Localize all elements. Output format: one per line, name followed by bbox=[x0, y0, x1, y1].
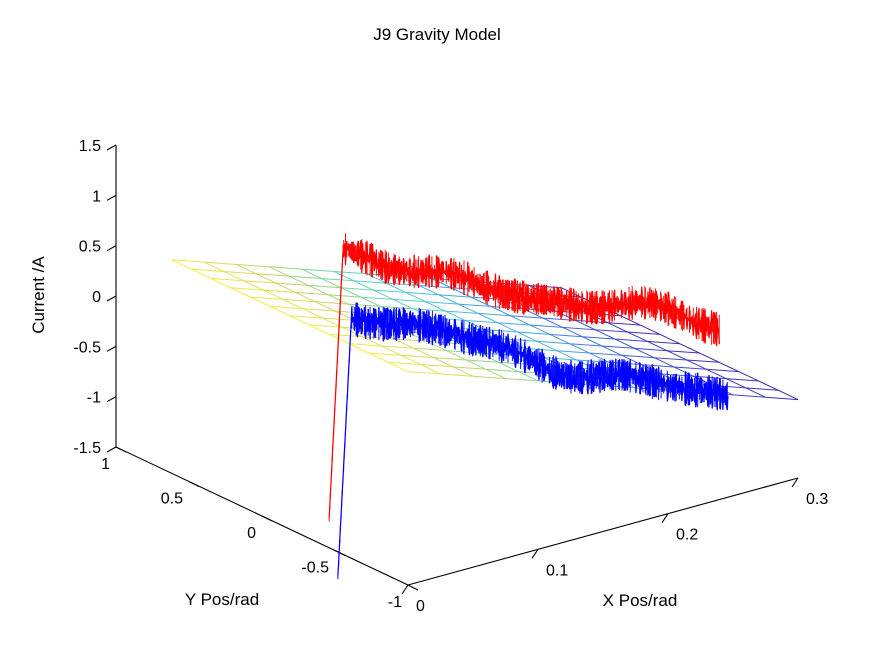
x-axis-line bbox=[408, 478, 798, 585]
x-tick-label: 0 bbox=[416, 598, 425, 615]
z-tick-label: 0.5 bbox=[79, 239, 101, 256]
data-series-group bbox=[329, 233, 728, 579]
tick-label-group: 1.510.50-0.5-1-1.510.50-0.5-100.10.20.3 bbox=[73, 138, 828, 615]
z-tick-mark bbox=[107, 397, 116, 402]
z-tick-mark bbox=[107, 447, 116, 452]
z-tick-mark bbox=[107, 346, 116, 351]
x-tick-mark bbox=[402, 585, 408, 594]
z-tick-label: 1.5 bbox=[79, 138, 101, 155]
y-tick-mark bbox=[262, 516, 272, 521]
plot-svg: 1.510.50-0.5-1-1.510.50-0.5-100.10.20.3 bbox=[0, 0, 875, 656]
z-tick-mark bbox=[107, 246, 116, 251]
z-tick-label: -1.5 bbox=[73, 440, 101, 457]
z-tick-mark bbox=[107, 145, 116, 150]
z-tick-label: -0.5 bbox=[73, 339, 101, 356]
z-tick-label: 0 bbox=[92, 289, 101, 306]
x-tick-label: 0.2 bbox=[676, 527, 698, 544]
y-tick-label: -0.5 bbox=[301, 560, 329, 577]
series-spikes-measured-current-negative bbox=[338, 303, 728, 579]
x-tick-label: 0.1 bbox=[546, 562, 568, 579]
z-tick-label: 1 bbox=[92, 188, 101, 205]
y-tick-label: 0 bbox=[247, 525, 256, 542]
y-tick-label: 0.5 bbox=[161, 491, 183, 508]
figure-canvas: 1.510.50-0.5-1-1.510.50-0.5-100.10.20.3 … bbox=[0, 0, 875, 656]
z-tick-label: -1 bbox=[87, 390, 101, 407]
series-measured-current-negative bbox=[338, 303, 728, 575]
y-tick-mark bbox=[189, 482, 199, 487]
y-tick-mark bbox=[408, 585, 418, 590]
z-tick-mark bbox=[107, 296, 116, 301]
z-tick-mark bbox=[107, 195, 116, 200]
y-tick-label: -1 bbox=[388, 594, 402, 611]
y-tick-mark bbox=[335, 551, 345, 556]
y-tick-mark bbox=[116, 447, 126, 452]
y-tick-label: 1 bbox=[101, 456, 110, 473]
x-tick-label: 0.3 bbox=[806, 491, 828, 508]
